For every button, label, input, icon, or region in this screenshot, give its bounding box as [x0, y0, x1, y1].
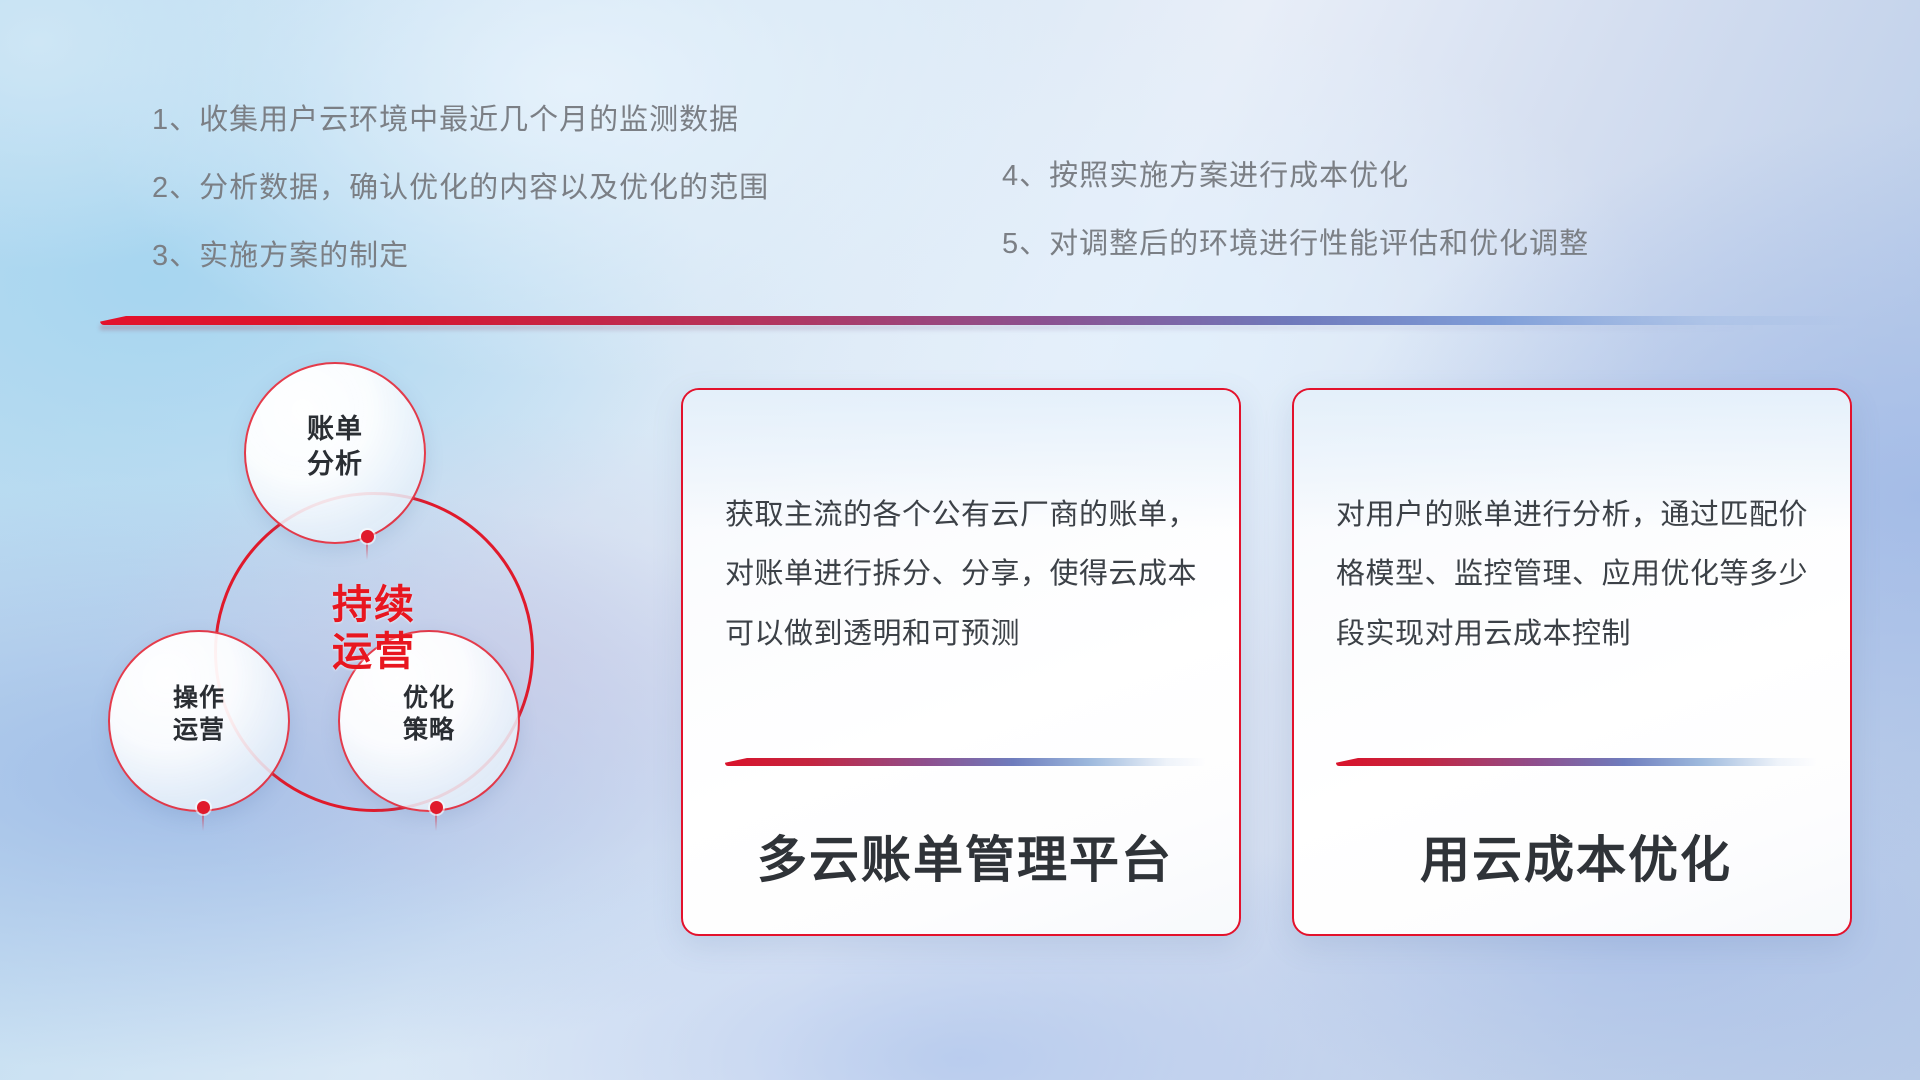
feature-card-multicloud-billing[interactable]: 获取主流的各个公有云厂商的账单，对账单进行拆分、分享，使得云成本可以做到透明和可… — [681, 388, 1241, 936]
venn-node-tail-top — [366, 542, 368, 560]
venn-node-dot-bottom-left — [197, 801, 210, 814]
feature-card-divider — [1336, 758, 1816, 766]
process-steps-left-column: 1、收集用户云环境中最近几个月的监测数据 2、分析数据，确认优化的内容以及优化的… — [152, 96, 769, 300]
venn-center-label: 持续 运营 — [214, 582, 534, 676]
venn-lobe-label: 账单 分析 — [246, 412, 424, 481]
process-step-2: 2、分析数据，确认优化的内容以及优化的范围 — [152, 164, 769, 206]
process-step-3: 3、实施方案的制定 — [152, 232, 769, 274]
venn-node-dot-top — [361, 530, 374, 543]
feature-card-title: 用云成本优化 — [1336, 820, 1816, 892]
feature-card-title: 多云账单管理平台 — [725, 820, 1205, 892]
venn-lobe-label: 优化 策略 — [340, 682, 518, 746]
venn-center-label-line2: 运营 — [332, 630, 416, 674]
feature-card-cloud-cost-optimization[interactable]: 对用户的账单进行分析，通过匹配价格模型、监控管理、应用优化等多少段实现对用云成本… — [1292, 388, 1852, 936]
section-divider-line — [100, 316, 1850, 325]
feature-card-divider — [725, 758, 1205, 766]
venn-diagram: 账单 分析 操作 运营 优化 策略 持续 运营 — [96, 352, 636, 932]
process-steps-right-column: 4、按照实施方案进行成本优化 5、对调整后的环境进行性能评估和优化调整 — [1002, 152, 1589, 288]
venn-lobe-label-line1: 优化 — [403, 684, 455, 712]
venn-lobe-bill-analysis[interactable]: 账单 分析 — [244, 362, 426, 544]
venn-lobe-label-line1: 操作 — [173, 684, 225, 712]
process-step-1: 1、收集用户云环境中最近几个月的监测数据 — [152, 96, 769, 138]
venn-lobe-label-line2: 策略 — [403, 716, 455, 744]
feature-card-body: 获取主流的各个公有云厂商的账单，对账单进行拆分、分享，使得云成本可以做到透明和可… — [725, 486, 1205, 664]
venn-lobe-label: 操作 运营 — [110, 682, 288, 746]
feature-card-body: 对用户的账单进行分析，通过匹配价格模型、监控管理、应用优化等多少段实现对用云成本… — [1336, 486, 1816, 664]
venn-lobe-label-line2: 运营 — [173, 716, 225, 744]
venn-center-label-line1: 持续 — [332, 583, 416, 627]
section-divider-shadow — [100, 325, 1850, 330]
process-step-5: 5、对调整后的环境进行性能评估和优化调整 — [1002, 220, 1589, 262]
venn-node-tail-bottom-right — [435, 813, 437, 831]
venn-lobe-label-line1: 账单 — [307, 414, 363, 444]
venn-lobe-label-line2: 分析 — [307, 449, 363, 479]
venn-node-tail-bottom-left — [202, 813, 204, 831]
venn-node-dot-bottom-right — [430, 801, 443, 814]
process-step-4: 4、按照实施方案进行成本优化 — [1002, 152, 1589, 194]
